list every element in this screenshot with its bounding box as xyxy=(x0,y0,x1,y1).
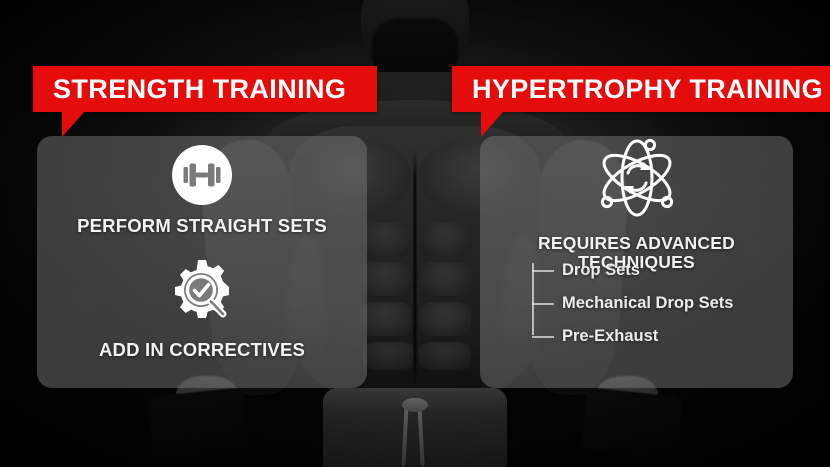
banner-hypertrophy-training: HYPERTROPHY TRAINING xyxy=(452,66,830,112)
panel-strength-training: PERFORM STRAIGHT SETS ADD IN CORRECTIVES xyxy=(37,136,367,388)
list-item: Drop Sets xyxy=(562,258,733,282)
strength-item-1: PERFORM STRAIGHT SETS xyxy=(37,144,367,236)
banner-tail xyxy=(481,112,503,137)
hypertrophy-item-1: REQUIRES ADVANCED TECHNIQUES xyxy=(480,132,793,273)
list-item-label: Mechanical Drop Sets xyxy=(562,295,733,312)
advanced-techniques-list: Drop Sets Mechanical Drop Sets Pre-Exhau… xyxy=(532,258,733,348)
strength-item-1-label: PERFORM STRAIGHT SETS xyxy=(37,216,367,236)
dumbbell-icon xyxy=(37,144,367,206)
panel-hypertrophy-training: REQUIRES ADVANCED TECHNIQUES Drop Sets M… xyxy=(480,136,793,388)
list-item: Pre-Exhaust xyxy=(562,324,733,348)
strength-item-2-label: ADD IN CORRECTIVES xyxy=(37,340,367,360)
list-item: Mechanical Drop Sets xyxy=(562,291,733,315)
list-bracket-line xyxy=(532,263,534,335)
banner-strength-training-label: STRENGTH TRAINING xyxy=(53,76,346,103)
list-item-label: Drop Sets xyxy=(562,262,640,279)
list-bracket-tick xyxy=(532,336,554,338)
banner-tail xyxy=(62,112,84,137)
strength-item-2: ADD IN CORRECTIVES xyxy=(37,256,367,360)
banner-strength-training: STRENGTH TRAINING xyxy=(33,66,377,112)
list-bracket-tick xyxy=(532,270,554,272)
list-item-label: Pre-Exhaust xyxy=(562,328,658,345)
banner-hypertrophy-training-label: HYPERTROPHY TRAINING xyxy=(472,76,823,103)
atom-recycle-icon xyxy=(480,132,793,224)
list-bracket-tick xyxy=(532,303,554,305)
infographic-canvas: PERFORM STRAIGHT SETS ADD IN CORRECTIVES xyxy=(0,0,830,467)
gear-magnifier-check-icon xyxy=(37,256,367,330)
